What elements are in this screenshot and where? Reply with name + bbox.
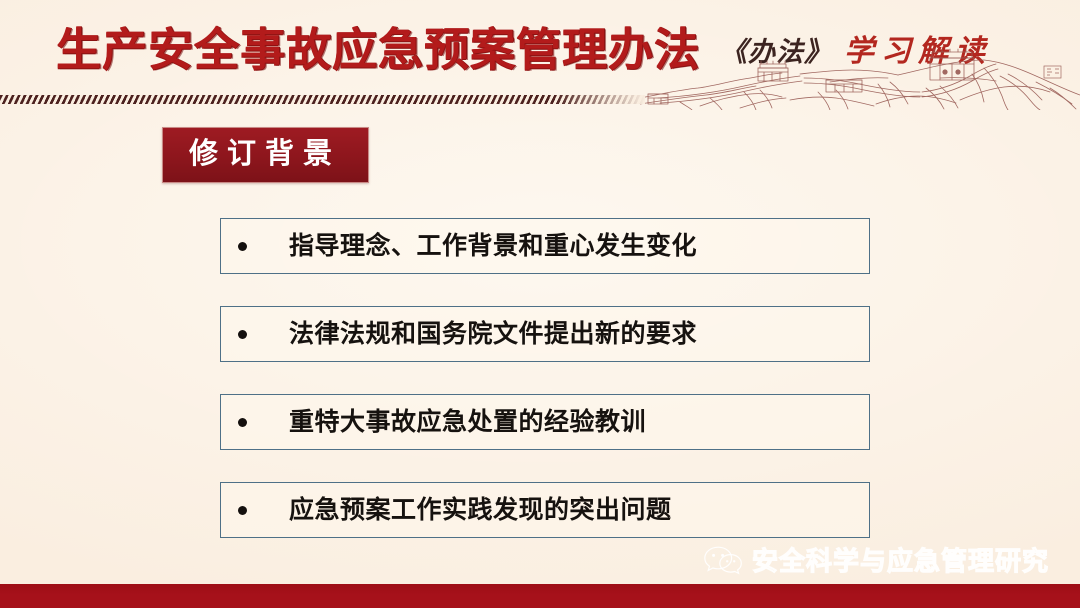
bullet-dot-icon [238, 242, 247, 251]
bullet-list: 指导理念、工作背景和重心发生变化 法律法规和国务院文件提出新的要求 重特大事故应… [220, 218, 870, 538]
list-item-label: 法律法规和国务院文件提出新的要求 [289, 319, 869, 349]
list-item[interactable]: 重特大事故应急处置的经验教训 [220, 394, 870, 450]
list-item[interactable]: 指导理念、工作背景和重心发生变化 [220, 218, 870, 274]
list-item[interactable]: 法律法规和国务院文件提出新的要求 [220, 306, 870, 362]
seal-stamp-icon [1044, 66, 1061, 78]
bottom-accent-bar [0, 584, 1080, 608]
presentation-slide: 生产安全事故应急预案管理办法 《办法》 学习解读 [0, 0, 1080, 608]
slide-header: 生产安全事故应急预案管理办法 《办法》 学习解读 [0, 0, 1080, 110]
list-item[interactable]: 应急预案工作实践发现的突出问题 [220, 482, 870, 538]
wechat-icon [703, 544, 743, 578]
diagonal-hatch-divider [0, 95, 645, 104]
bottom-bar-shade [0, 584, 1080, 608]
page-title: 生产安全事故应急预案管理办法 [56, 22, 700, 78]
watermark: 安全科学与应急管理研究 [703, 544, 1049, 578]
great-wall-illustration [640, 48, 1080, 110]
list-item-label: 应急预案工作实践发现的突出问题 [289, 495, 869, 525]
watermark-label: 安全科学与应急管理研究 [752, 545, 1049, 577]
bullet-dot-icon [238, 418, 247, 427]
section-badge-label: 修订背景 [189, 137, 342, 171]
bullet-dot-icon [238, 506, 247, 515]
section-badge: 修订背景 [162, 127, 369, 183]
bullet-dot-icon [238, 330, 247, 339]
list-item-label: 指导理念、工作背景和重心发生变化 [289, 231, 869, 261]
list-item-label: 重特大事故应急处置的经验教训 [289, 407, 869, 437]
